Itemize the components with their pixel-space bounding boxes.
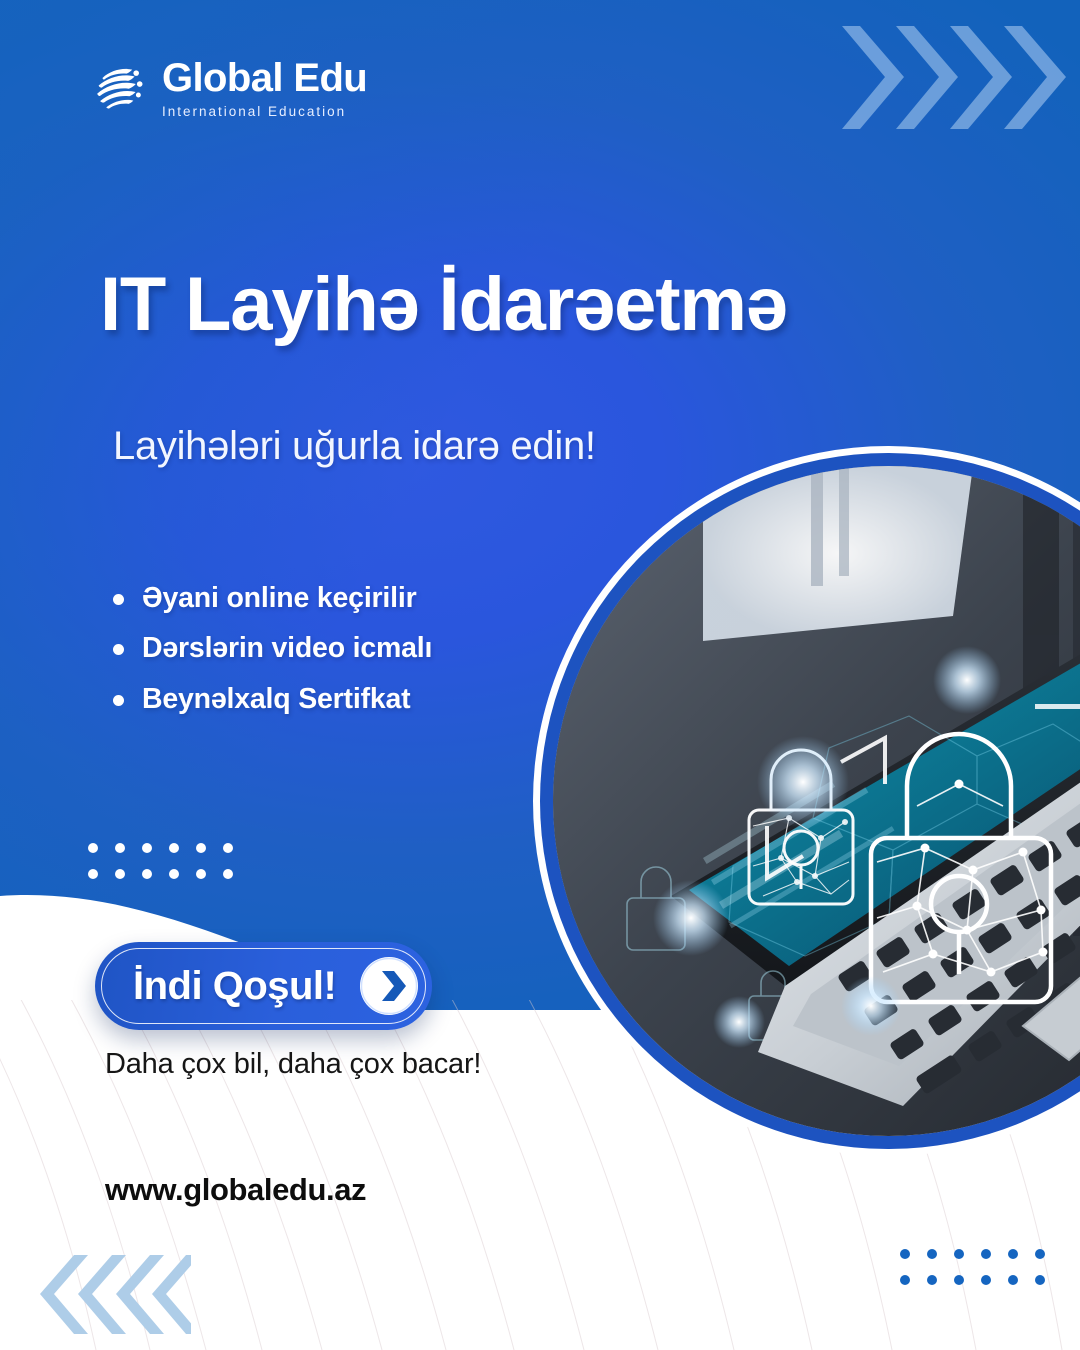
page-title: IT Layihə İdarəetmə — [100, 265, 1000, 345]
laptop-cybersecurity-padlock-photo — [553, 466, 1080, 1136]
photo-artwork — [553, 466, 1080, 1136]
dot-grid-white — [88, 843, 233, 879]
logo-subtitle: International Education — [162, 105, 367, 119]
website-url[interactable]: www.globaledu.az — [105, 1172, 366, 1208]
poster-canvas: Global Edu International Education — [0, 0, 1080, 1350]
list-item: Əyani online keçirilir — [106, 583, 536, 614]
photo-circle-wrapper — [513, 441, 1080, 1161]
chevron-right-circle-icon — [358, 955, 420, 1017]
footer-tagline: Daha çox bil, daha çox bacar! — [105, 1048, 481, 1081]
chevron-right-group-icon — [838, 20, 1078, 135]
list-item: Beynəlxalq Sertifkat — [106, 684, 536, 715]
chevron-left-group-icon — [26, 1252, 191, 1337]
logo-name: Global Edu — [162, 58, 367, 98]
join-now-button[interactable]: İndi Qoşul! — [95, 942, 432, 1030]
page-subtitle: Layihələri uğurla idarə edin! — [113, 424, 833, 469]
list-item: Dərslərin video icmalı — [106, 633, 536, 664]
dot-grid-blue — [900, 1249, 1045, 1285]
join-now-label: İndi Qoşul! — [133, 964, 336, 1009]
brand-logo[interactable]: Global Edu International Education — [92, 58, 367, 119]
globe-swoosh-icon — [92, 60, 148, 116]
feature-list: Əyani online keçirilir Dərslərin video i… — [106, 583, 536, 734]
